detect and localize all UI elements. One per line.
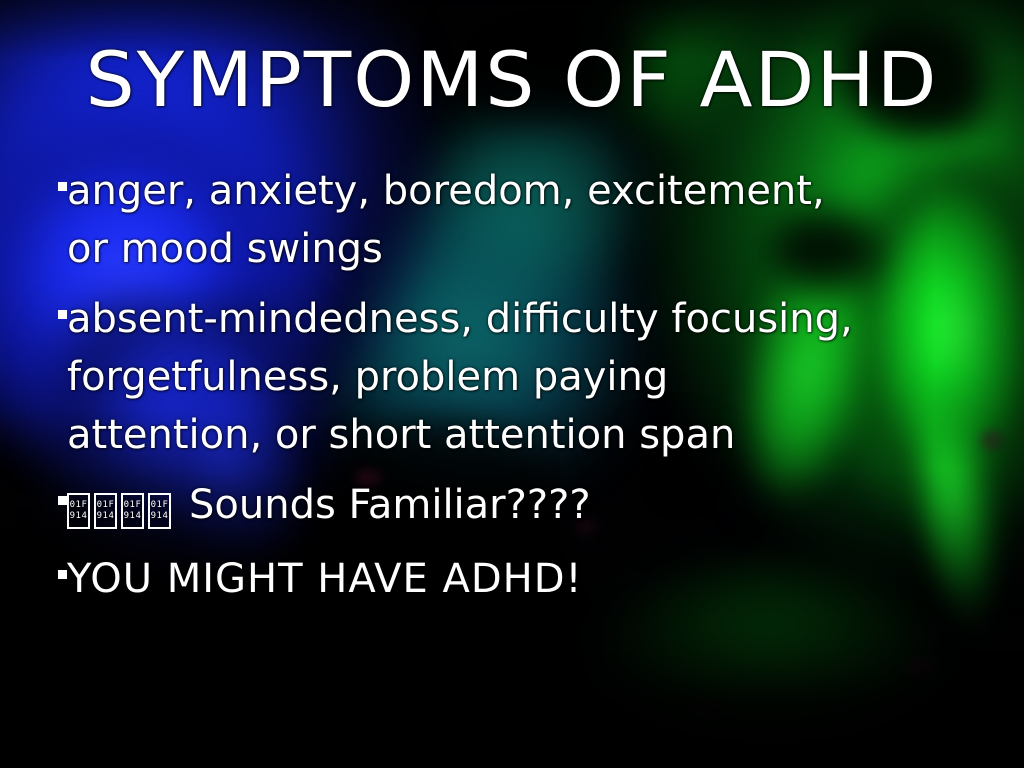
missing-glyph-box-group: 01F91401F91401F91401F914: [67, 480, 175, 538]
missing-glyph-codepoint-low: 914: [123, 512, 142, 521]
missing-glyph-codepoint-high: 01F: [69, 501, 88, 510]
bullet-text-you-might-have-adhd: YOU MIGHT HAVE ADHD!: [67, 550, 583, 608]
list-item: anger, anxiety, boredom, excitement, or …: [0, 162, 1024, 278]
list-item: 01F91401F91401F91401F914Sounds Familiar?…: [0, 476, 1024, 538]
bullet-text-attention-symptoms: absent-mindedness, difficulty focusing, …: [67, 290, 857, 464]
missing-glyph-box: 01F914: [94, 493, 117, 529]
missing-glyph-codepoint-low: 914: [96, 512, 115, 521]
list-item: YOU MIGHT HAVE ADHD!: [0, 550, 1024, 608]
bullet-text-sounds-familiar: 01F91401F91401F91401F914Sounds Familiar?…: [67, 476, 591, 538]
missing-glyph-codepoint-high: 01F: [96, 501, 115, 510]
square-bullet-icon: [0, 162, 58, 191]
missing-glyph-box: 01F914: [148, 493, 171, 529]
missing-glyph-box: 01F914: [121, 493, 144, 529]
missing-glyph-codepoint-high: 01F: [150, 501, 169, 510]
slide-title: SYMPTOMS OF ADHD: [0, 38, 1024, 122]
missing-glyph-codepoint-low: 914: [69, 512, 88, 521]
square-bullet-icon: [0, 290, 58, 319]
bullet-text-sounds-familiar-label: Sounds Familiar????: [189, 482, 591, 528]
square-bullet-icon: [0, 550, 58, 579]
missing-glyph-codepoint-low: 914: [150, 512, 169, 521]
square-bullet-icon: [0, 476, 58, 505]
list-item: absent-mindedness, difficulty focusing, …: [0, 290, 1024, 464]
missing-glyph-codepoint-high: 01F: [123, 501, 142, 510]
slide-content: SYMPTOMS OF ADHD anger, anxiety, boredom…: [0, 0, 1024, 768]
bullet-list: anger, anxiety, boredom, excitement, or …: [0, 162, 1024, 620]
bullet-text-emotional-symptoms: anger, anxiety, boredom, excitement, or …: [67, 162, 857, 278]
presentation-slide: SYMPTOMS OF ADHD anger, anxiety, boredom…: [0, 0, 1024, 768]
missing-glyph-box: 01F914: [67, 493, 90, 529]
